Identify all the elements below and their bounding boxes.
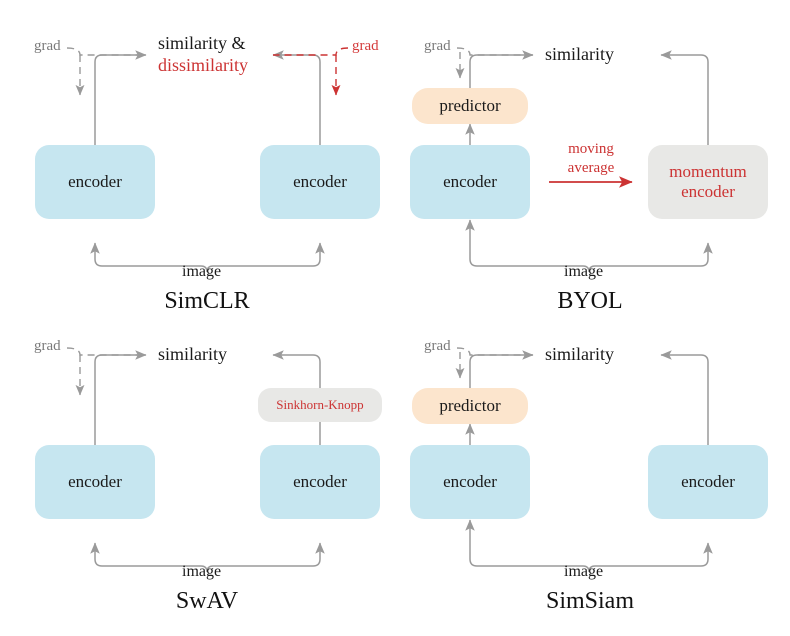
panel-title-simsiam: SimSiam [390,588,790,615]
encoder-box-left[interactable]: encoder [35,445,155,519]
input-image-label: image [182,563,221,581]
encoder-box-left[interactable]: encoder [410,445,530,519]
panel-title-swav: SwAV [0,588,414,615]
sinkhorn-knopp-box[interactable]: Sinkhorn-Knopp [258,388,382,422]
predictor-box[interactable]: predictor [412,388,528,424]
encoder-box-left[interactable]: encoder [35,145,155,219]
moving-average-line2: average [554,159,628,178]
grad-label-left: grad [34,38,61,55]
encoder-box-right[interactable]: encoder [260,145,380,219]
encoder-box-right[interactable]: encoder [648,445,768,519]
objective-label-similarity: similarity [158,344,227,365]
encoder-label: encoder [443,472,497,492]
moving-average-label: moving average [554,140,628,178]
encoder-label: encoder [443,172,497,192]
encoder-box-left[interactable]: encoder [410,145,530,219]
encoder-label: encoder [68,172,122,192]
predictor-label: predictor [439,396,500,416]
encoder-label: encoder [681,472,735,492]
sinkhorn-knopp-label: Sinkhorn-Knopp [276,397,363,412]
grad-label-left: grad [424,338,451,355]
encoder-box-right[interactable]: encoder [260,445,380,519]
predictor-label: predictor [439,96,500,116]
predictor-box[interactable]: predictor [412,88,528,124]
objective-label-dissimilarity: dissimilarity [158,55,248,76]
grad-label-left: grad [34,338,61,355]
input-image-label: image [564,563,603,581]
input-image-label: image [182,263,221,281]
objective-label-similarity: similarity [545,344,614,365]
grad-label-left: grad [424,38,451,55]
figure-canvas: grad similarity & dissimilarity grad enc… [0,0,790,636]
grad-label-right: grad [352,38,379,55]
panel-title-simclr: SimCLR [0,288,414,315]
panel-title-byol: BYOL [390,288,790,315]
encoder-label: encoder [293,172,347,192]
momentum-encoder-label-line1: momentum [669,162,746,182]
moving-average-line1: moving [554,140,628,159]
momentum-encoder-box[interactable]: momentum encoder [648,145,768,219]
input-image-label: image [564,263,603,281]
encoder-label: encoder [293,472,347,492]
encoder-label: encoder [68,472,122,492]
connector-wires [0,0,790,636]
momentum-encoder-label-line2: encoder [681,182,735,202]
objective-label-similarity: similarity [545,44,614,65]
objective-label-similarity: similarity & [158,33,246,54]
